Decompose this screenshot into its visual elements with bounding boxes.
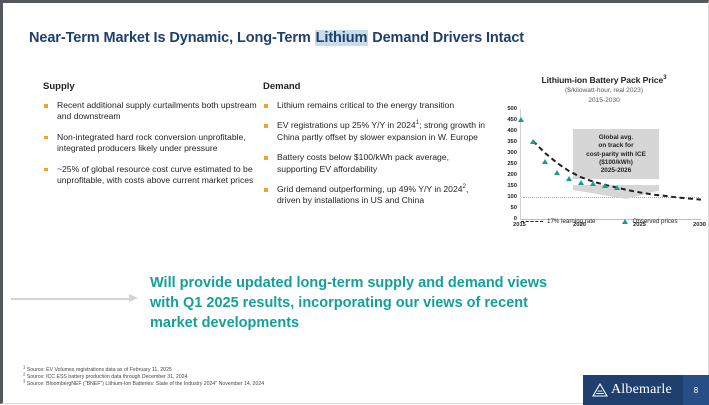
list-item-text: Grid demand outperforming, up 49% Y/Y in… [277, 184, 463, 194]
chart-subtitle-range: 2015-2030 [501, 97, 707, 105]
footnote-3: 3 Source: BloombergNEF ("BNEF") Lithium-… [23, 381, 453, 388]
learning-rate-line [501, 109, 707, 231]
chart-subtitle-units: ($/kilowatt-hour, real 2023) [501, 87, 707, 95]
legend-item-observed: Observed prices [633, 218, 678, 225]
footnote-text: Source: BloombergNEF ("BNEF") Lithium-Io… [27, 381, 264, 387]
data-point-triangle [614, 185, 620, 190]
page-title-part2: Demand Drivers Intact [368, 30, 524, 46]
list-item: Grid demand outperforming, up 49% Y/Y in… [263, 184, 491, 207]
list-item: EV registrations up 25% Y/Y in 20241; st… [263, 120, 491, 143]
battery-price-chart: Lithium-ion Battery Pack Price3 ($/kilow… [501, 75, 707, 255]
supply-column: Supply Recent additional supply curtailm… [43, 81, 258, 195]
slide-canvas: Near-Term Market Is Dynamic, Long-Term L… [0, 0, 709, 404]
summary-banner: Will provide updated long-term supply an… [150, 273, 570, 333]
supply-heading: Supply [43, 81, 258, 92]
supply-bullet-list: Recent additional supply curtailments bo… [43, 100, 258, 186]
legend-item-learning-rate: 17% learning rate [521, 218, 596, 225]
legend-label: Observed prices [633, 218, 678, 225]
triangle-icon [622, 219, 628, 224]
data-point-triangle [590, 181, 596, 186]
demand-column: Demand Lithium remains critical to the e… [263, 81, 491, 216]
footnote-marker: 3 [23, 378, 25, 383]
list-item: Recent additional supply curtailments bo… [43, 100, 258, 123]
list-item: Non-integrated hard rock conversion unpr… [43, 132, 258, 155]
footnote-text: Source: EV Volumes registrations data as… [27, 367, 172, 373]
chart-title: Lithium-ion Battery Pack Price3 [501, 75, 707, 85]
chart-plot-area: Global avg. on track for cost-parity wit… [501, 109, 707, 229]
list-item-text: Lithium remains critical to the energy t… [277, 100, 454, 110]
arrow-shaft [11, 298, 131, 300]
page-title-part1: Near-Term Market Is Dynamic, Long-Term [29, 30, 315, 46]
chart-legend: 17% learning rateObserved prices [521, 218, 707, 225]
footnote-ref: 3 [663, 74, 666, 81]
demand-heading: Demand [263, 81, 491, 92]
data-point-triangle [554, 170, 560, 175]
footnote-marker: 2 [23, 371, 25, 376]
page-title-highlight: Lithium [315, 30, 369, 46]
albemarle-logo-icon [592, 383, 608, 397]
dashed-line-icon [521, 221, 543, 222]
brand-name: Albemarle [611, 382, 672, 398]
data-point-triangle [518, 117, 524, 122]
list-item: ~25% of global resource cost curve estim… [43, 164, 258, 187]
page-title: Near-Term Market Is Dynamic, Long-Term L… [29, 30, 524, 46]
arrow-head [129, 294, 138, 302]
data-point-triangle [566, 176, 572, 181]
data-point-triangle [530, 139, 536, 144]
list-item-text: EV registrations up 25% Y/Y in 2024 [277, 120, 416, 130]
data-point-triangle [542, 159, 548, 164]
chart-title-text: Lithium-ion Battery Pack Price [542, 75, 664, 85]
brand-footer: Albemarle 8 [583, 375, 709, 405]
demand-bullet-list: Lithium remains critical to the energy t… [263, 100, 491, 207]
list-item-text: Battery costs below $100/kWh pack averag… [277, 152, 449, 173]
footnote-text: Source: ICC ESS battery production data … [27, 374, 188, 380]
arrow-right-icon [11, 294, 143, 303]
list-item: Lithium remains critical to the energy t… [263, 100, 491, 111]
page-number: 8 [683, 375, 709, 405]
data-point-triangle [578, 180, 584, 185]
data-point-triangle [602, 183, 608, 188]
list-item: Battery costs below $100/kWh pack averag… [263, 152, 491, 175]
footnote-marker: 1 [23, 364, 25, 369]
legend-label: 17% learning rate [547, 218, 596, 225]
footnotes: 1 Source: EV Volumes registrations data … [23, 367, 453, 388]
